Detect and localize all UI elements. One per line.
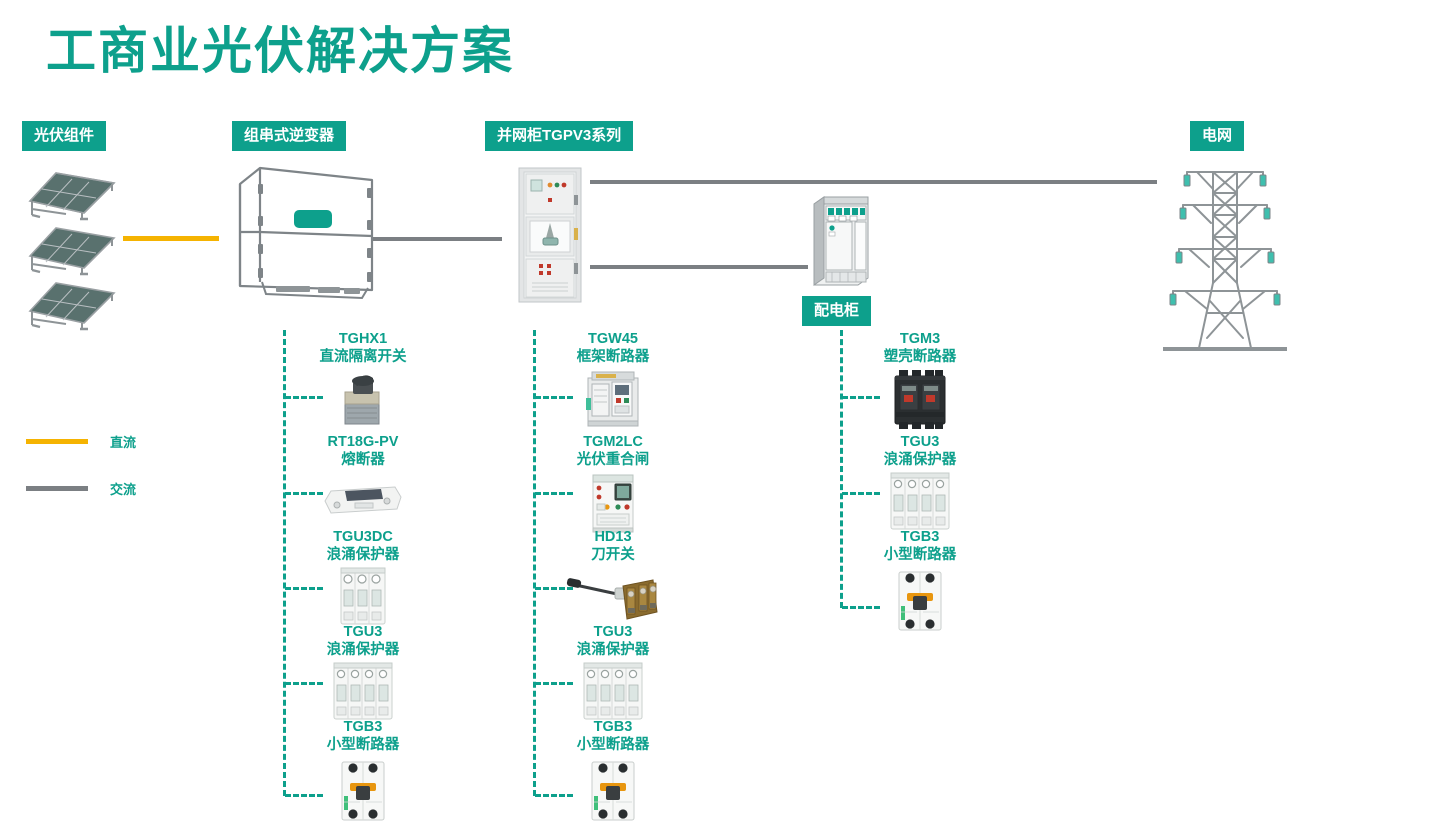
distribution-cabinet-icon: [808, 192, 874, 290]
product-desc: 塑壳断路器: [835, 348, 1005, 366]
product-image-knife-switch: [528, 566, 698, 628]
product-column-distribution-branch: TGM3 塑壳断路器: [840, 330, 1020, 640]
product-model: RT18G-PV: [278, 433, 448, 451]
badge-distribution-cabinet: 配电柜: [802, 296, 871, 326]
legend-item-ac: 交流: [26, 479, 136, 498]
product-model: TGM3: [835, 330, 1005, 348]
product-desc: 小型断路器: [835, 546, 1005, 564]
product-desc: 熔断器: [278, 451, 448, 469]
product-item: TGU3DC 浪涌保护器: [278, 528, 448, 628]
product-image-spd-3p: [278, 566, 448, 628]
product-desc: 刀开关: [528, 546, 698, 564]
legend-swatch-ac: [26, 486, 88, 491]
distribution-cabinet: [808, 192, 874, 290]
product-desc: 框架断路器: [528, 348, 698, 366]
badge-grid: 电网: [1190, 121, 1244, 151]
string-inverter: [232, 160, 377, 305]
product-model: TGB3: [835, 528, 1005, 546]
product-desc: 直流隔离开关: [278, 348, 448, 366]
badge-inverter: 组串式逆变器: [232, 121, 346, 151]
ac-line-grid-cabinet-to-tower: [590, 180, 1157, 184]
product-image-mcb-2p: [278, 756, 448, 818]
legend-label-ac: 交流: [110, 479, 136, 498]
pv-array-icon: [22, 165, 122, 325]
ac-line-inverter-to-grid-cabinet: [372, 237, 502, 241]
product-desc: 浪涌保护器: [528, 641, 698, 659]
product-column-inverter-branch: TGHX1 直流隔离开关 RT18G-PV 熔断器: [283, 330, 463, 830]
transmission-tower-icon: [1155, 163, 1295, 358]
product-desc: 浪涌保护器: [278, 546, 448, 564]
product-item: TGW45 框架断路器: [528, 330, 698, 430]
legend-label-dc: 直流: [110, 432, 136, 451]
transmission-tower: [1155, 163, 1295, 358]
grid-connection-cabinet: [519, 168, 581, 302]
product-model: TGB3: [528, 718, 698, 736]
badge-grid-cabinet: 并网柜TGPV3系列: [485, 121, 633, 151]
product-model: TGM2LC: [528, 433, 698, 451]
product-item: TGB3 小型断路器: [528, 718, 698, 818]
product-item: TGU3 浪涌保护器: [835, 433, 1005, 533]
product-image-spd-4p: [835, 471, 1005, 533]
product-model: TGB3: [278, 718, 448, 736]
legend-swatch-dc: [26, 439, 88, 444]
inverter-icon: [232, 160, 377, 305]
product-item: TGM2LC 光伏重合闸: [528, 433, 698, 533]
page-title: 工商业光伏解决方案: [46, 22, 514, 80]
product-item: TGU3 浪涌保护器: [278, 623, 448, 723]
product-item: TGU3 浪涌保护器: [528, 623, 698, 723]
product-item: RT18G-PV 熔断器: [278, 433, 448, 533]
pv-array: [22, 165, 122, 325]
product-desc: 光伏重合闸: [528, 451, 698, 469]
product-item: TGHX1 直流隔离开关: [278, 330, 448, 430]
product-model: TGHX1: [278, 330, 448, 348]
product-image-mccb: [835, 368, 1005, 430]
product-model: TGW45: [528, 330, 698, 348]
product-desc: 浪涌保护器: [278, 641, 448, 659]
product-desc: 小型断路器: [528, 736, 698, 754]
product-item: TGB3 小型断路器: [835, 528, 1005, 628]
dc-line-pv-to-inverter: [123, 236, 219, 241]
product-desc: 浪涌保护器: [835, 451, 1005, 469]
badge-pv-modules: 光伏组件: [22, 121, 106, 151]
product-image-fuse-holder: [278, 471, 448, 533]
product-desc: 小型断路器: [278, 736, 448, 754]
grid-cabinet-icon: [519, 168, 581, 302]
product-item: TGB3 小型断路器: [278, 718, 448, 818]
product-image-spd-4p: [278, 661, 448, 723]
product-image-acb: [528, 368, 698, 430]
diagram-canvas: 工商业光伏解决方案 光伏组件 组串式逆变器 并网柜TGPV3系列 电网 配电柜 …: [0, 0, 1436, 829]
product-column-grid-cabinet-branch: TGW45 框架断路器: [533, 330, 713, 830]
product-model: TGU3DC: [278, 528, 448, 546]
product-model: TGU3: [278, 623, 448, 641]
product-image-mcb-2p: [528, 756, 698, 818]
product-image-rotary-isolator: [278, 368, 448, 430]
ac-line-grid-cabinet-to-distribution: [590, 265, 808, 269]
legend-item-dc: 直流: [26, 432, 136, 451]
product-item: HD13 刀开关: [528, 528, 698, 628]
product-model: TGU3: [528, 623, 698, 641]
product-model: TGU3: [835, 433, 1005, 451]
product-image-recloser: [528, 471, 698, 533]
product-image-mcb-2p: [835, 566, 1005, 628]
product-image-spd-4p: [528, 661, 698, 723]
product-model: HD13: [528, 528, 698, 546]
product-item: TGM3 塑壳断路器: [835, 330, 1005, 430]
